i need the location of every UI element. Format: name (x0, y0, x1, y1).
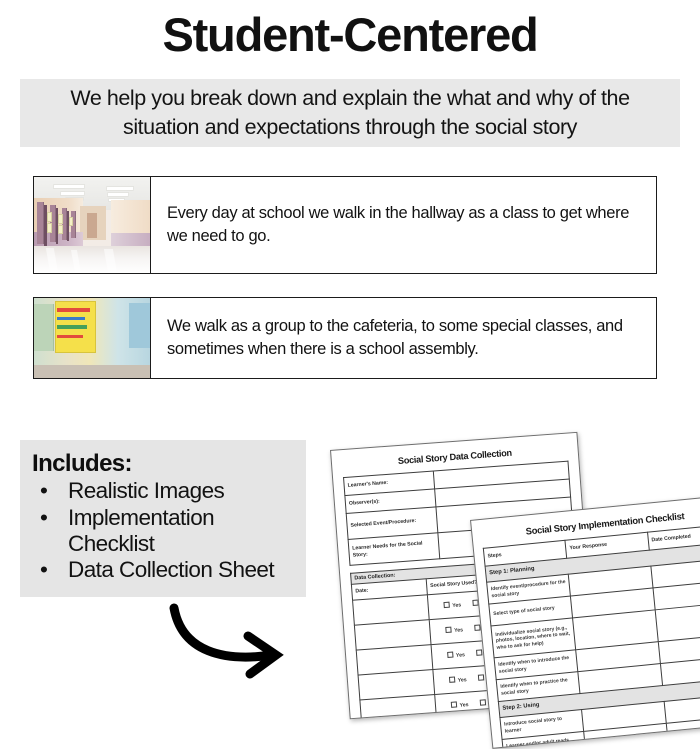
story-card-text: Every day at school we walk in the hallw… (167, 202, 642, 249)
checkbox-yes[interactable] (444, 602, 450, 608)
story-card-text-wrap: Every day at school we walk in the hallw… (151, 177, 656, 273)
story-card: Every day at school we walk in the hallw… (33, 176, 657, 274)
checkbox-yes[interactable] (449, 676, 455, 682)
checkbox-yes[interactable] (451, 701, 457, 707)
teacher-and-students-walking-photo (34, 298, 151, 378)
checkbox-yes-label: Yes (456, 652, 465, 659)
story-card-text: We walk as a group to the cafeteria, to … (167, 315, 642, 362)
list-item: • Data Collection Sheet (32, 557, 296, 583)
checkbox-no[interactable] (474, 625, 480, 631)
includes-list: • Realistic Images • Implementation Chec… (32, 478, 296, 583)
checkbox-yes-label: Yes (458, 677, 467, 684)
list-item-label: Data Collection Sheet (68, 557, 274, 582)
checkbox-yes-label: Yes (452, 602, 461, 609)
checkbox-yes-label: Yes (454, 627, 463, 634)
bullet-icon: • (40, 557, 47, 583)
checkbox-yes[interactable] (445, 627, 451, 633)
story-card-text-wrap: We walk as a group to the cafeteria, to … (151, 298, 656, 378)
row-label: Learner Needs for the Social Story: (348, 533, 440, 566)
checkbox-no[interactable] (477, 674, 483, 680)
includes-box: Includes: • Realistic Images • Implement… (20, 440, 306, 597)
page-title: Student-Centered (0, 10, 700, 59)
date-cell[interactable] (360, 694, 437, 719)
list-item: • Implementation Checklist (32, 505, 296, 558)
list-item: • Realistic Images (32, 478, 296, 504)
list-item-label: Realistic Images (68, 478, 224, 503)
curved-arrow-right-icon (168, 600, 298, 685)
list-item-label: Implementation Checklist (68, 505, 214, 556)
subtitle-text: We help you break down and explain the w… (40, 84, 660, 142)
bullet-icon: • (40, 505, 47, 531)
includes-heading: Includes: (32, 451, 296, 476)
implementation-checklist-table: Steps Your Response Date Completed Step … (483, 524, 700, 749)
bullet-icon: • (40, 478, 47, 504)
school-hallway-photo (34, 177, 151, 273)
checkbox-no[interactable] (476, 649, 482, 655)
implementation-checklist-preview: Social Story Implementation Checklist St… (470, 494, 700, 749)
checkbox-yes-label: Yes (459, 702, 468, 709)
story-card: We walk as a group to the cafeteria, to … (33, 297, 657, 379)
checkbox-no[interactable] (479, 699, 485, 705)
subtitle-band: We help you break down and explain the w… (20, 79, 680, 147)
checkbox-yes[interactable] (447, 652, 453, 658)
